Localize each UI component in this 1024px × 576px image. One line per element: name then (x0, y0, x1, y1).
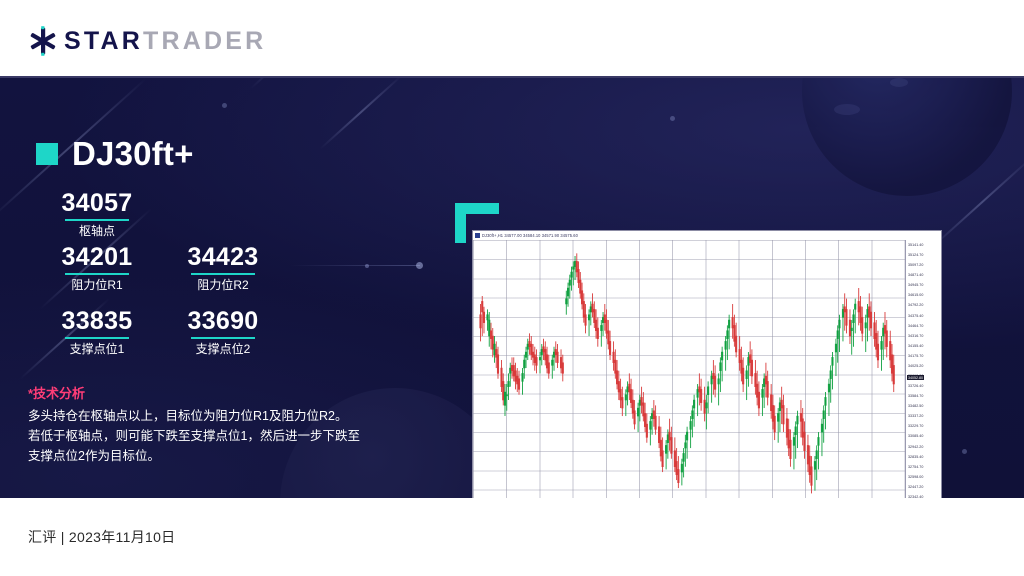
price-tick: 33584.70 (908, 394, 923, 398)
support-1-block: 33835 支撑点位1 (52, 308, 142, 358)
pivot-point-underline (65, 219, 129, 221)
price-tick: 32754.70 (908, 465, 923, 469)
page-footer: 汇评 | 2023年11月10日 (0, 498, 1024, 576)
chart-window-icon (475, 233, 480, 238)
price-tick: 34025.20 (908, 364, 923, 368)
analysis-line: 多头持仓在枢轴点以上，目标位为阻力位R1及阻力位R2。 (28, 407, 398, 427)
chart-plot-area[interactable] (473, 240, 905, 498)
instrument-symbol: DJ30ft+ (72, 135, 194, 173)
price-tick: 35097.20 (908, 263, 923, 267)
hairline-decoration (290, 265, 420, 266)
levels-grid: 34201 阻力位R1 34423 阻力位R2 33835 支撑点位1 336 (52, 244, 302, 372)
chart-titlebar: DJ30ft+,H1 34577.00 34584.10 34571.90 34… (473, 231, 941, 240)
price-tick: 35124.70 (908, 253, 923, 257)
current-price-arrow-icon (905, 375, 906, 381)
technical-analysis-body: 多头持仓在枢轴点以上，目标位为阻力位R1及阻力位R2。 若低于枢轴点，则可能下跌… (28, 407, 398, 466)
brand-logo[interactable]: STAR TRADER (28, 28, 266, 54)
brand-name-bold: STAR (64, 27, 143, 56)
price-axis: 35141.4035124.7035097.2034871.4034945.70… (905, 240, 941, 498)
technical-analysis-block: *技术分析 多头持仓在枢轴点以上，目标位为阻力位R1及阻力位R2。 若低于枢轴点… (28, 383, 398, 466)
support-row: 33835 支撑点位1 33690 支撑点位2 (52, 308, 302, 358)
price-tick: 34464.70 (908, 324, 923, 328)
resistance-2-block: 34423 阻力位R2 (178, 244, 268, 294)
price-tick: 34175.70 (908, 354, 923, 358)
price-tick: 32598.00 (908, 475, 923, 479)
support-2-block: 33690 支撑点位2 (178, 308, 268, 358)
price-tick: 33726.40 (908, 384, 923, 388)
technical-analysis-title: *技术分析 (28, 383, 398, 402)
price-tick: 32942.20 (908, 445, 923, 449)
price-tick: 34375.40 (908, 314, 923, 318)
resistance-1-label: 阻力位R1 (52, 278, 142, 294)
brand-name-light: TRADER (143, 27, 266, 56)
resistance-1-block: 34201 阻力位R1 (52, 244, 142, 294)
footer-caption: 汇评 | 2023年11月10日 (28, 527, 175, 547)
pivot-point-value: 34057 (52, 190, 142, 216)
pivot-point-block: 34057 枢轴点 (52, 190, 142, 240)
chart-window[interactable]: DJ30ft+,H1 34577.00 34584.10 34571.90 34… (472, 230, 942, 498)
resistance-1-value: 34201 (52, 244, 142, 270)
brand-wordmark: STAR TRADER (64, 27, 266, 56)
chart-window-title: DJ30ft+,H1 34577.00 34584.10 34571.90 34… (482, 233, 578, 238)
slide-root: STAR TRADER DJ30ft+ (0, 0, 1024, 576)
instrument-title: DJ30ft+ (36, 135, 194, 173)
dot-decoration (962, 449, 967, 454)
analysis-line: 若低于枢轴点，则可能下跌至支撑点位1，然后进一步下跌至 (28, 427, 398, 447)
price-tick: 34155.40 (908, 344, 923, 348)
candlestick-series (473, 240, 905, 498)
price-tick: 32835.40 (908, 455, 923, 459)
price-tick: 34316.70 (908, 334, 923, 338)
support-1-underline (65, 337, 129, 339)
price-tick: 33085.40 (908, 434, 923, 438)
support-1-value: 33835 (52, 308, 142, 334)
support-2-value: 33690 (178, 308, 268, 334)
price-tick: 34945.70 (908, 283, 923, 287)
resistance-1-underline (65, 273, 129, 275)
dot-decoration (365, 264, 369, 268)
price-tick: 33337.20 (908, 414, 923, 418)
support-2-underline (191, 337, 255, 339)
price-tick: 33482.50 (908, 404, 923, 408)
support-2-label: 支撑点位2 (178, 342, 268, 358)
price-tick: 35141.40 (908, 243, 923, 247)
current-price-label: 34052.80 (907, 375, 924, 380)
resistance-2-value: 34423 (178, 244, 268, 270)
analysis-line: 支撑点位2作为目标位。 (28, 447, 398, 467)
resistance-2-label: 阻力位R2 (178, 278, 268, 294)
price-tick: 32447.20 (908, 485, 923, 489)
resistance-2-underline (191, 273, 255, 275)
price-tick: 34792.20 (908, 303, 923, 307)
price-tick: 34871.40 (908, 273, 923, 277)
price-tick: 33229.70 (908, 424, 923, 428)
support-1-label: 支撑点位1 (52, 342, 142, 358)
dot-decoration (670, 116, 675, 121)
dot-decoration (416, 262, 423, 269)
square-bullet-icon (36, 143, 58, 165)
asterisk-star-icon (28, 26, 58, 56)
pivot-point-label: 枢轴点 (52, 224, 142, 240)
dot-decoration (222, 103, 227, 108)
main-stage: DJ30ft+ 34057 枢轴点 34201 阻力位R1 34423 阻力位R… (0, 78, 1024, 498)
page-header: STAR TRADER (0, 0, 1024, 78)
resistance-row: 34201 阻力位R1 34423 阻力位R2 (52, 244, 302, 294)
price-tick: 34615.00 (908, 293, 923, 297)
